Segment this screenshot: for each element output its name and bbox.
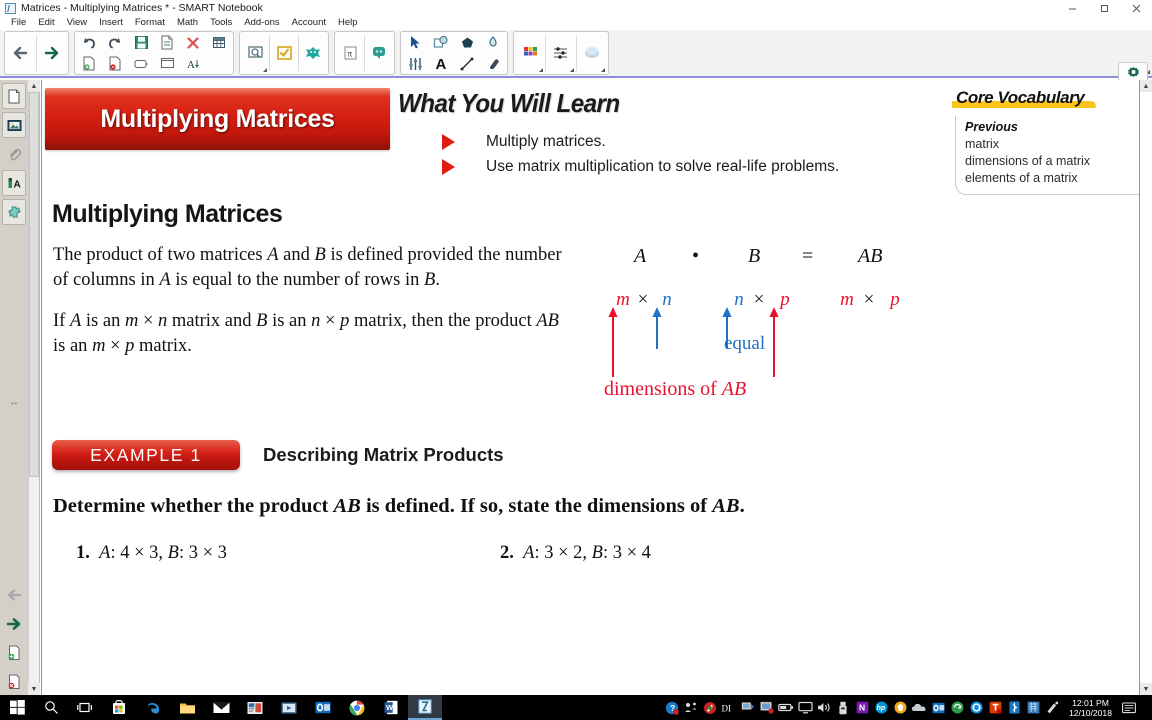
problem-item-2: 2. A: 3 × 2, B: 3 × 4 xyxy=(500,543,651,564)
file-explorer-icon[interactable] xyxy=(170,695,204,720)
monitor-icon[interactable] xyxy=(796,695,815,720)
example-header: EXAMPLE 1 Describing Matrix Products xyxy=(52,440,504,470)
problem-number: 1. xyxy=(76,543,90,563)
main-toolbar: A xyxy=(0,30,1152,78)
people-share-icon[interactable] xyxy=(682,695,701,720)
color-palette-icon[interactable] xyxy=(515,32,545,74)
scroll-up-arrow-icon[interactable]: ▲ xyxy=(1140,80,1152,92)
diagram-label-ab: AB xyxy=(858,245,882,268)
objective-text: Multiply matrices. xyxy=(486,133,606,151)
news-app-icon[interactable] xyxy=(238,695,272,720)
lesson-title-text: Multiplying Matrices xyxy=(100,105,334,134)
core-vocabulary-terms: Previous matrix dimensions of a matrix e… xyxy=(955,116,1140,195)
table-icon[interactable] xyxy=(208,33,230,53)
word-icon[interactable]: W xyxy=(374,695,408,720)
page-sorter-icon[interactable] xyxy=(2,83,26,109)
line-properties-icon[interactable] xyxy=(546,32,576,74)
directions-ab-2: AB xyxy=(712,495,739,517)
vocabulary-term: dimensions of a matrix xyxy=(965,153,1140,170)
save-icon[interactable] xyxy=(130,33,152,53)
title-bar: Matrices - Multiplying Matrices * - SMAR… xyxy=(0,0,1152,16)
svg-text:A: A xyxy=(187,59,195,71)
lesson-title-banner: Multiplying Matrices xyxy=(45,88,390,150)
full-screen-icon[interactable] xyxy=(156,54,178,74)
core-vocabulary-heading: Core Vocabulary xyxy=(956,88,1084,107)
vocabulary-term: matrix xyxy=(965,136,1140,153)
core-vocabulary-box: Core Vocabulary Previous matrix dimensio… xyxy=(952,88,1140,195)
teamviewer-icon[interactable] xyxy=(967,695,986,720)
svg-text:π: π xyxy=(347,49,352,59)
objective-text: Use matrix multiplication to solve real-… xyxy=(486,158,839,176)
lab-activity-icon[interactable] xyxy=(299,32,327,74)
dimensions-caption-ab: AB xyxy=(722,378,746,400)
smart-board-icon[interactable] xyxy=(739,695,758,720)
diagram-dot-operator: • xyxy=(692,245,699,268)
fill-bucket-icon[interactable] xyxy=(482,33,504,53)
problem-b-label: B xyxy=(168,543,179,563)
menu-addons[interactable]: Add-ons xyxy=(238,16,285,30)
problem-a-dims: : 4 × 3, xyxy=(110,543,167,563)
svg-text:A: A xyxy=(435,56,446,71)
body-text-column: The product of two matrices A and B is d… xyxy=(53,243,573,358)
stack-delete-text: A xyxy=(180,32,206,74)
forward-arrow-icon[interactable] xyxy=(2,611,26,637)
stack-shapepen-text: A xyxy=(428,32,454,74)
windows-start-icon[interactable] xyxy=(0,695,34,720)
example-directions: Determine whether the product AB is defi… xyxy=(53,495,745,518)
pdf-export-icon[interactable] xyxy=(104,54,126,74)
delete-x-icon[interactable] xyxy=(182,33,204,53)
menu-bar: File Edit View Insert Format Math Tools … xyxy=(0,16,1152,30)
left-sidebar: A ↔ xyxy=(0,80,28,695)
window-controls xyxy=(1056,0,1152,16)
edge-browser-icon[interactable] xyxy=(136,695,170,720)
paragraph-definition: The product of two matrices A and B is d… xyxy=(53,243,573,292)
stack-newpage-fullscreen xyxy=(154,32,180,74)
triangle-bullet-icon xyxy=(442,159,455,175)
shape-pen-icon[interactable] xyxy=(430,33,452,53)
next-page-arrow-icon[interactable] xyxy=(37,32,67,74)
properties-icon[interactable]: A xyxy=(2,170,26,196)
gallery-icon[interactable] xyxy=(2,112,26,138)
scroll-thumb[interactable] xyxy=(29,92,39,477)
attachments-paperclip-icon[interactable] xyxy=(2,141,26,167)
menu-view[interactable]: View xyxy=(61,16,93,30)
smart-notebook-window: Matrices - Multiplying Matrices * - SMAR… xyxy=(0,0,1152,720)
problem-a-label: A xyxy=(99,543,110,563)
canvas-scrollbar-left[interactable]: ▲ ▼ xyxy=(28,80,40,695)
microsoft-store-icon[interactable] xyxy=(102,695,136,720)
volume-icon[interactable] xyxy=(815,695,834,720)
menu-format[interactable]: Format xyxy=(129,16,171,30)
window-title: Matrices - Multiplying Matrices * - SMAR… xyxy=(21,2,263,14)
directions-ab-1: AB xyxy=(334,495,361,517)
addons-puzzle-icon[interactable] xyxy=(2,199,26,225)
cloud-icon[interactable] xyxy=(910,695,929,720)
table-spacer xyxy=(208,54,230,74)
stack-save-shade xyxy=(128,32,154,74)
sync-icon[interactable] xyxy=(948,695,967,720)
resize-handle-icon[interactable]: ↔ xyxy=(4,393,24,411)
pen-input-icon[interactable] xyxy=(1043,695,1062,720)
problem-b-dims: : 3 × 4 xyxy=(603,543,651,563)
open-file-icon[interactable] xyxy=(78,54,100,74)
menu-tools[interactable]: Tools xyxy=(204,16,238,30)
screen-capture-icon[interactable] xyxy=(241,32,269,74)
outlook-icon[interactable] xyxy=(306,695,340,720)
search-icon[interactable] xyxy=(34,695,68,720)
canvas-scrollbar-right[interactable]: ▲ ▼ xyxy=(1140,80,1152,695)
what-you-will-learn-section: What You Will Learn Multiply matrices. U… xyxy=(398,88,953,183)
stack-shapes-line xyxy=(454,32,480,74)
help-question-icon[interactable]: ? xyxy=(663,695,682,720)
previous-page-arrow-icon[interactable] xyxy=(6,32,36,74)
toolbar-group-math: π xyxy=(334,31,395,75)
back-arrow-icon[interactable] xyxy=(2,582,26,608)
example-badge: EXAMPLE 1 xyxy=(52,440,240,470)
objective-item: Multiply matrices. xyxy=(398,133,953,151)
stack-table xyxy=(206,32,232,74)
select-arrow-icon[interactable] xyxy=(404,33,426,53)
video-app-icon[interactable] xyxy=(272,695,306,720)
notebook-canvas[interactable]: Multiplying Matrices What You Will Learn… xyxy=(41,80,1140,695)
svg-text:A: A xyxy=(13,180,20,191)
menu-math[interactable]: Math xyxy=(171,16,204,30)
toolbar-group-navigation xyxy=(4,31,69,75)
paragraph-dimensions-rule: If A is an m × n matrix and B is an n × … xyxy=(53,309,573,358)
directions-part-1: Determine whether the product xyxy=(53,495,334,517)
menu-insert[interactable]: Insert xyxy=(93,16,129,30)
add-page-icon[interactable] xyxy=(2,640,26,666)
problem-item-1: 1. A: 4 × 3, B: 3 × 3 xyxy=(76,543,227,564)
usb-icon[interactable] xyxy=(834,695,853,720)
smart-ink-icon[interactable] xyxy=(701,695,720,720)
taskbar-clock[interactable]: 12:01 PM 12/10/2018 xyxy=(1062,698,1119,718)
redo-icon[interactable] xyxy=(104,33,126,53)
menu-edit[interactable]: Edit xyxy=(32,16,60,30)
new-page-icon[interactable] xyxy=(156,33,178,53)
battery-icon[interactable] xyxy=(777,695,796,720)
stack-redo-pdf xyxy=(102,32,128,74)
response-check-icon[interactable] xyxy=(270,32,298,74)
task-view-icon[interactable] xyxy=(68,695,102,720)
previous-label: Previous xyxy=(965,120,1140,134)
undo-icon[interactable] xyxy=(78,33,100,53)
sliders-icon[interactable] xyxy=(404,54,426,74)
triangle-bullet-icon xyxy=(442,134,455,150)
notebook-document-icon xyxy=(5,3,16,14)
text-sort-icon[interactable]: A xyxy=(182,54,204,74)
toolbar-group-properties xyxy=(513,31,609,75)
outlook-tray-icon[interactable] xyxy=(929,695,948,720)
svg-text:hp: hp xyxy=(877,705,886,712)
scroll-down-arrow-icon[interactable]: ▼ xyxy=(28,683,40,695)
vocabulary-term: elements of a matrix xyxy=(965,170,1140,187)
line-icon[interactable] xyxy=(456,54,478,74)
diagram-dimensions-caption: dimensions of AB xyxy=(604,378,746,401)
show-desktop-button[interactable] xyxy=(1138,695,1152,720)
section-heading: Multiplying Matrices xyxy=(52,200,282,229)
svg-text:W: W xyxy=(386,703,394,712)
what-you-will-learn-heading: What You Will Learn xyxy=(398,88,914,119)
antivirus-icon[interactable] xyxy=(891,695,910,720)
stack-fill-eraser xyxy=(480,32,506,74)
onenote-n-icon[interactable]: N xyxy=(853,695,872,720)
menu-file[interactable]: File xyxy=(5,16,32,30)
problem-a-dims: : 3 × 2, xyxy=(534,543,591,563)
directions-part-2: is defined. If so, state the dimensions … xyxy=(361,495,712,517)
stack-select-sliders xyxy=(402,32,428,74)
matrix-dimension-diagram: A • B = AB m × n n × p m × p xyxy=(602,245,972,430)
svg-text:DI: DI xyxy=(722,703,732,713)
toolbar-group-file-edit: A xyxy=(74,31,234,75)
problem-b-label: B xyxy=(592,543,603,563)
problem-a-label: A xyxy=(523,543,534,563)
eraser-icon[interactable] xyxy=(482,54,504,74)
di-text-icon[interactable]: DI xyxy=(720,695,739,720)
chrome-icon[interactable] xyxy=(340,695,374,720)
minimize-button[interactable] xyxy=(1056,0,1088,16)
windows-taskbar: W ? DI xyxy=(0,695,1152,720)
diagram-label-a: A xyxy=(634,245,646,268)
problem-b-dims: : 3 × 3 xyxy=(179,543,227,563)
shapes-icon[interactable] xyxy=(456,33,478,53)
bluetooth-icon[interactable] xyxy=(1005,695,1024,720)
geometry-shape-icon[interactable] xyxy=(365,32,393,74)
problem-number: 2. xyxy=(500,543,514,563)
restore-button[interactable] xyxy=(1088,0,1120,16)
core-vocabulary-heading-wrap: Core Vocabulary xyxy=(952,88,1088,109)
math-pi-icon[interactable]: π xyxy=(336,32,364,74)
hp-icon[interactable]: hp xyxy=(872,695,891,720)
scroll-down-arrow-icon[interactable]: ▼ xyxy=(1140,683,1152,695)
system-tray: ? DI xyxy=(663,695,1152,720)
example-badge-text: EXAMPLE 1 xyxy=(90,445,202,466)
clock-time: 12:01 PM xyxy=(1069,698,1112,708)
dim-ab-p: p xyxy=(878,287,912,312)
objectives-list: Multiply matrices. Use matrix multiplica… xyxy=(398,133,953,176)
display-alert-icon[interactable] xyxy=(758,695,777,720)
office-alert-icon[interactable] xyxy=(986,695,1005,720)
directions-part-3: . xyxy=(740,495,745,517)
clock-date: 12/10/2018 xyxy=(1069,708,1112,718)
menu-account[interactable]: Account xyxy=(286,16,332,30)
menu-help[interactable]: Help xyxy=(332,16,364,30)
diagram-equals-sign: = xyxy=(802,245,813,268)
screen-shade-icon[interactable] xyxy=(130,54,152,74)
action-center-icon[interactable] xyxy=(1119,695,1138,720)
diagram-label-b: B xyxy=(748,245,760,268)
stack-undo-open xyxy=(76,32,102,74)
delete-page-icon[interactable] xyxy=(2,669,26,695)
example-title: Describing Matrix Products xyxy=(263,444,504,466)
network-icon[interactable] xyxy=(1024,695,1043,720)
toolbar-group-capture xyxy=(239,31,329,75)
mail-icon[interactable] xyxy=(204,695,238,720)
text-a-icon[interactable]: A xyxy=(430,54,452,74)
close-button[interactable] xyxy=(1120,0,1152,16)
dimensions-caption-text: dimensions of xyxy=(604,378,722,400)
svg-text:N: N xyxy=(859,703,865,713)
diagram-equal-label: equal xyxy=(724,333,765,355)
toolbar-group-tools: A xyxy=(400,31,508,75)
smart-notebook-icon[interactable] xyxy=(408,695,442,720)
scroll-up-arrow-icon[interactable]: ▲ xyxy=(28,80,40,92)
transparency-icon[interactable] xyxy=(577,32,607,74)
objective-item: Use matrix multiplication to solve real-… xyxy=(398,158,953,176)
